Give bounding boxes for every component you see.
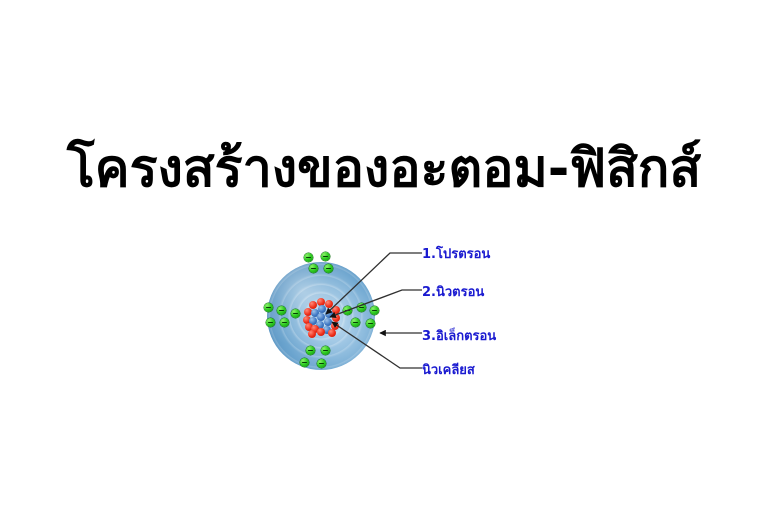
callout-label-electron: 3.อิเล็กตรอน: [422, 330, 496, 343]
callout-label-proton: 1.โปรตรอน: [422, 248, 490, 261]
leader-line-nucleus: [332, 322, 422, 368]
page-title: โครงสร้างของอะตอม-ฟิสิกส์: [0, 140, 768, 200]
atom-structure-diagram: [250, 238, 520, 398]
leader-line-neutron: [330, 290, 422, 317]
callout-label-neutron: 2.นิวตรอน: [422, 286, 484, 299]
leader-line-proton: [326, 253, 422, 314]
callout-leader-lines: [250, 238, 520, 398]
callout-label-nucleus: นิวเคลียส: [422, 364, 475, 377]
